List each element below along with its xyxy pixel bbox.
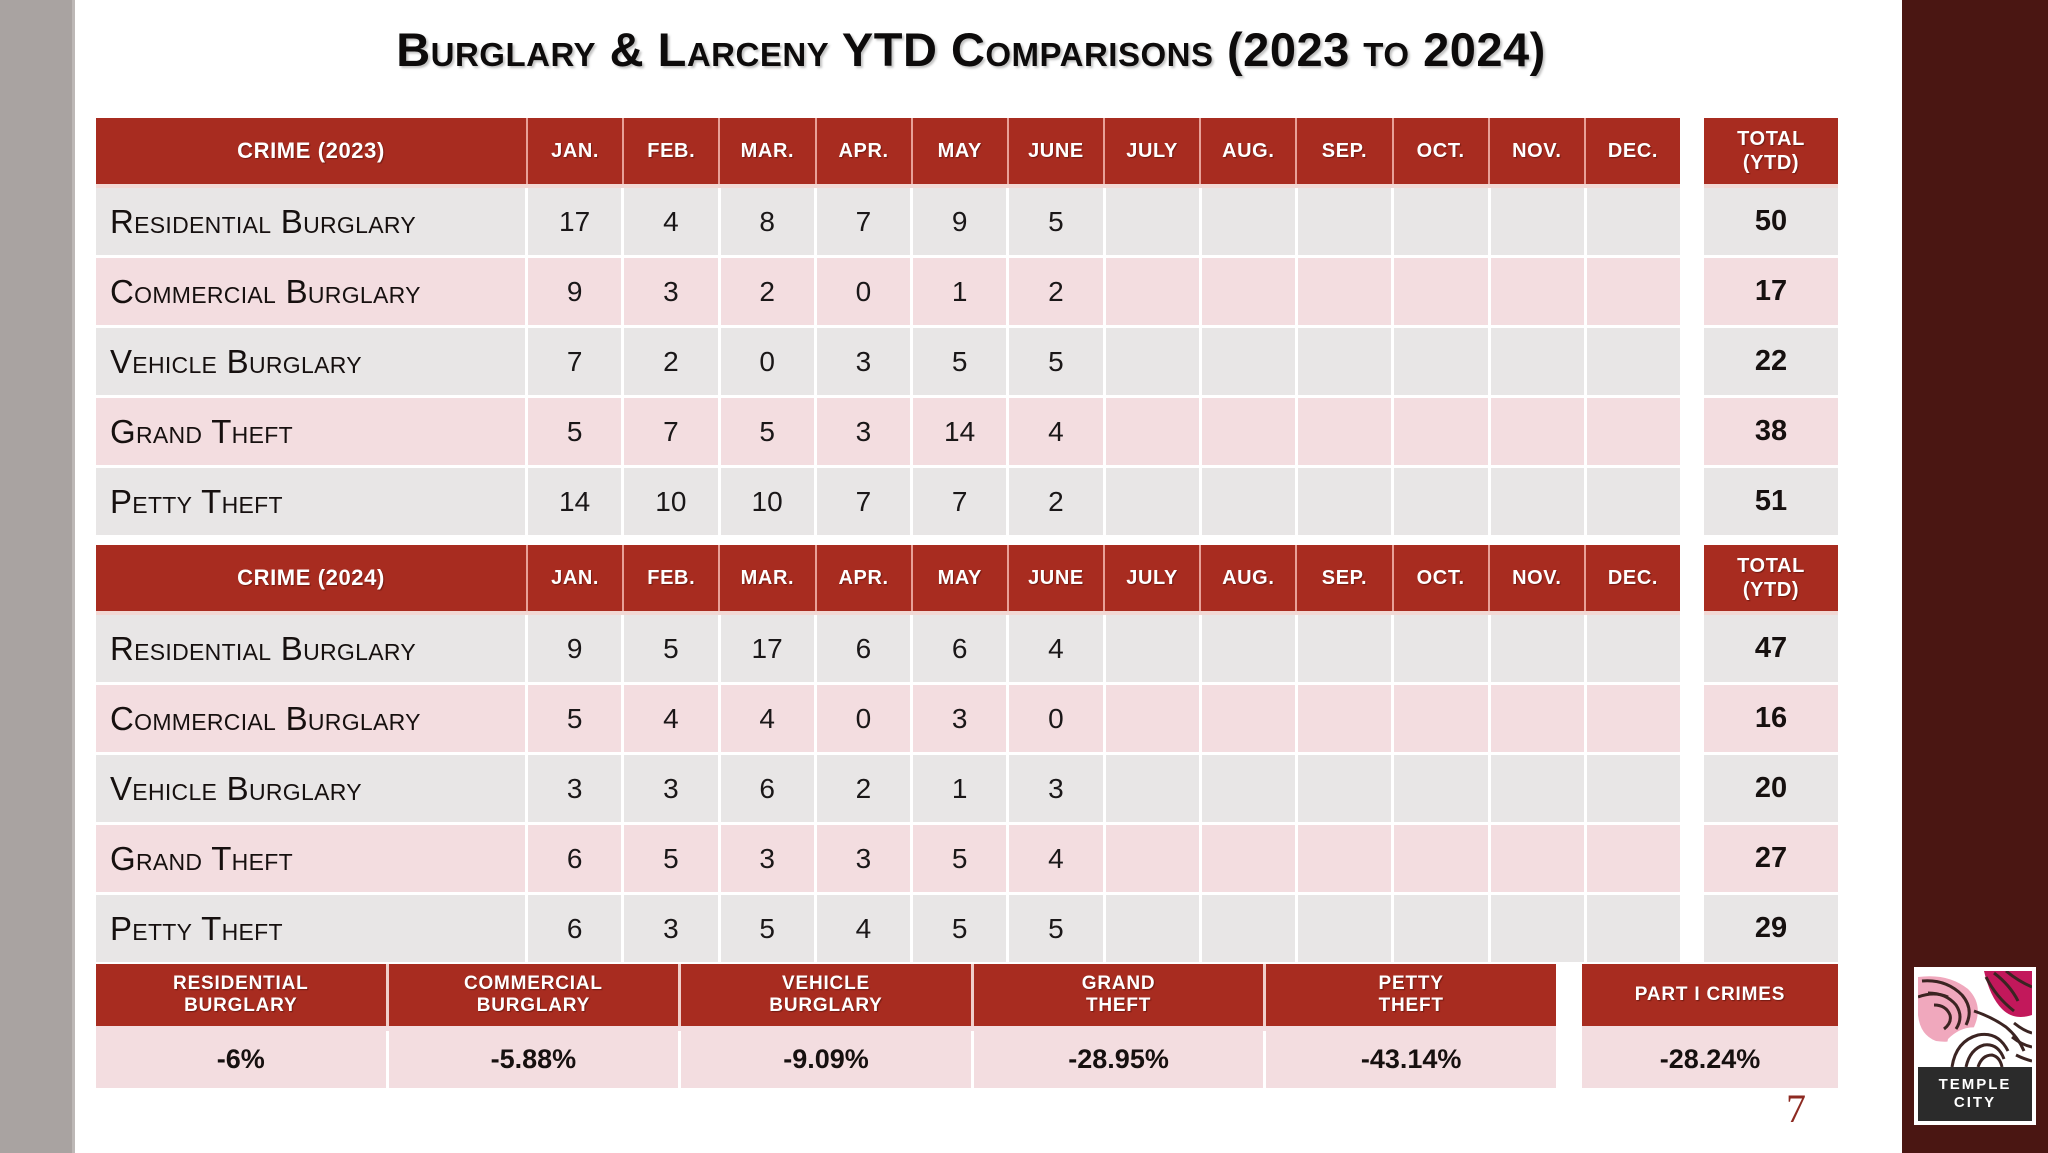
- cell-june: 0: [1009, 685, 1105, 752]
- cell-july: [1106, 685, 1202, 752]
- percent-change-value-row: -6% -5.88% -9.09% -28.95% -43.14%: [96, 1031, 1556, 1088]
- column-header-apr: APR.: [817, 118, 913, 184]
- cell-may: 7: [913, 468, 1009, 535]
- percent-residential-burglary: -6%: [96, 1031, 389, 1088]
- column-header-aug: AUG.: [1201, 118, 1297, 184]
- compare-header-grand-theft: GRAND THEFT: [974, 964, 1267, 1026]
- cell-may: 5: [913, 895, 1009, 962]
- cell-oct: [1394, 825, 1490, 892]
- cell-oct: [1394, 615, 1490, 682]
- compare-header-line1: PETTY: [1379, 973, 1444, 995]
- column-header-june: JUNE: [1009, 118, 1105, 184]
- column-header-feb: FEB.: [624, 118, 720, 184]
- cell-jan: 5: [528, 398, 624, 465]
- cell-sep: [1298, 825, 1394, 892]
- cell-apr: 3: [817, 398, 913, 465]
- cell-dec: [1587, 328, 1680, 395]
- total-value: 22: [1704, 328, 1838, 395]
- column-header-jan: JAN.: [528, 545, 624, 611]
- cell-nov: [1491, 895, 1587, 962]
- cell-oct: [1394, 895, 1490, 962]
- cell-nov: [1491, 615, 1587, 682]
- cell-mar: 4: [721, 685, 817, 752]
- cell-jan: 9: [528, 615, 624, 682]
- table-header-row: CRIME (2023) JAN. FEB. MAR. APR. MAY JUN…: [96, 118, 1680, 184]
- percent-petty-theft: -43.14%: [1266, 1031, 1556, 1088]
- cell-jan: 6: [528, 825, 624, 892]
- cell-apr: 0: [817, 685, 913, 752]
- cell-sep: [1298, 258, 1394, 325]
- cell-aug: [1202, 615, 1298, 682]
- compare-header-line2: BURGLARY: [184, 995, 297, 1017]
- table-row: Residential Burglary 17 4 8 7 9 5: [96, 188, 1680, 255]
- cell-aug: [1202, 825, 1298, 892]
- cell-june: 5: [1009, 328, 1105, 395]
- total-value: 27: [1704, 825, 1838, 892]
- cell-may: 1: [913, 258, 1009, 325]
- total-header-line2: (YTD): [1743, 151, 1799, 175]
- column-header-oct: OCT.: [1394, 118, 1490, 184]
- cell-july: [1106, 398, 1202, 465]
- total-header-line1: TOTAL: [1737, 127, 1805, 151]
- table-row: Vehicle Burglary 7 2 0 3 5 5: [96, 328, 1680, 395]
- cell-june: 4: [1009, 398, 1105, 465]
- table-row: Grand Theft 5 7 5 3 14 4: [96, 398, 1680, 465]
- cell-feb: 3: [624, 258, 720, 325]
- column-header-total: TOTAL (YTD): [1704, 118, 1838, 184]
- cell-apr: 0: [817, 258, 913, 325]
- percent-commercial-burglary: -5.88%: [389, 1031, 682, 1088]
- cell-jan: 17: [528, 188, 624, 255]
- cell-may: 9: [913, 188, 1009, 255]
- cell-oct: [1394, 755, 1490, 822]
- compare-header-vehicle-burglary: VEHICLE BURGLARY: [681, 964, 974, 1026]
- percent-change-header-row: RESIDENTIAL BURGLARY COMMERCIAL BURGLARY…: [96, 964, 1556, 1026]
- column-header-may: MAY: [913, 545, 1009, 611]
- table-row: Commercial Burglary 5 4 4 0 3 0: [96, 685, 1680, 752]
- cell-jan: 3: [528, 755, 624, 822]
- cell-dec: [1587, 755, 1680, 822]
- cell-may: 5: [913, 825, 1009, 892]
- compare-header-line2: BURGLARY: [769, 995, 882, 1017]
- page-number: 7: [1766, 1085, 1826, 1132]
- cell-feb: 7: [624, 398, 720, 465]
- logo-line-temple: TEMPLE: [1939, 1076, 2012, 1094]
- table-row: Petty Theft 6 3 5 4 5 5: [96, 895, 1680, 962]
- percent-change-table: RESIDENTIAL BURGLARY COMMERCIAL BURGLARY…: [96, 964, 1556, 1088]
- cell-jan: 7: [528, 328, 624, 395]
- part-one-crimes-value: -28.24%: [1582, 1031, 1838, 1088]
- table-row: Grand Theft 6 5 3 3 5 4: [96, 825, 1680, 892]
- cell-july: [1106, 328, 1202, 395]
- cell-apr: 7: [817, 468, 913, 535]
- cell-aug: [1202, 895, 1298, 962]
- cell-aug: [1202, 328, 1298, 395]
- row-label: Vehicle Burglary: [96, 755, 528, 822]
- table-row: Commercial Burglary 9 3 2 0 1 2: [96, 258, 1680, 325]
- cell-sep: [1298, 615, 1394, 682]
- cell-aug: [1202, 755, 1298, 822]
- compare-header-line1: COMMERCIAL: [464, 973, 603, 995]
- cell-dec: [1587, 685, 1680, 752]
- column-header-july: JULY: [1105, 118, 1201, 184]
- cell-nov: [1491, 398, 1587, 465]
- table-row: Residential Burglary 9 5 17 6 6 4: [96, 615, 1680, 682]
- rose-icon: [1918, 971, 2032, 1067]
- column-header-july: JULY: [1105, 545, 1201, 611]
- column-header-nov: NOV.: [1490, 118, 1586, 184]
- column-header-sep: SEP.: [1297, 118, 1393, 184]
- column-header-oct: OCT.: [1394, 545, 1490, 611]
- cell-june: 4: [1009, 825, 1105, 892]
- cell-oct: [1394, 468, 1490, 535]
- column-header-may: MAY: [913, 118, 1009, 184]
- cell-aug: [1202, 258, 1298, 325]
- temple-city-wordmark: TEMPLE CITY: [1918, 1067, 2032, 1121]
- row-label: Commercial Burglary: [96, 685, 528, 752]
- cell-jan: 5: [528, 685, 624, 752]
- cell-aug: [1202, 685, 1298, 752]
- column-header-sep: SEP.: [1297, 545, 1393, 611]
- cell-mar: 10: [721, 468, 817, 535]
- cell-dec: [1587, 825, 1680, 892]
- row-label: Petty Theft: [96, 468, 528, 535]
- percent-vehicle-burglary: -9.09%: [681, 1031, 974, 1088]
- column-header-jan: JAN.: [528, 118, 624, 184]
- row-label: Petty Theft: [96, 895, 528, 962]
- cell-oct: [1394, 188, 1490, 255]
- column-header-june: JUNE: [1009, 545, 1105, 611]
- logo-line-city: CITY: [1954, 1094, 1996, 1112]
- cell-dec: [1587, 615, 1680, 682]
- cell-sep: [1298, 188, 1394, 255]
- cell-july: [1106, 258, 1202, 325]
- row-label: Grand Theft: [96, 398, 528, 465]
- total-value: 20: [1704, 755, 1838, 822]
- cell-july: [1106, 825, 1202, 892]
- compare-header-line2: THEFT: [1086, 995, 1151, 1017]
- column-header-nov: NOV.: [1490, 545, 1586, 611]
- cell-mar: 5: [721, 895, 817, 962]
- column-header-mar: MAR.: [720, 118, 816, 184]
- cell-mar: 8: [721, 188, 817, 255]
- slide-canvas: Burglary & Larceny YTD Comparisons (2023…: [76, 0, 1902, 1153]
- cell-oct: [1394, 398, 1490, 465]
- total-value: 16: [1704, 685, 1838, 752]
- cell-apr: 3: [817, 825, 913, 892]
- total-value: 50: [1704, 188, 1838, 255]
- cell-july: [1106, 188, 1202, 255]
- cell-july: [1106, 755, 1202, 822]
- cell-june: 5: [1009, 188, 1105, 255]
- cell-may: 5: [913, 328, 1009, 395]
- cell-sep: [1298, 895, 1394, 962]
- table-row: Vehicle Burglary 3 3 6 2 1 3: [96, 755, 1680, 822]
- compare-header-line2: THEFT: [1379, 995, 1444, 1017]
- left-decorative-band: [0, 0, 72, 1153]
- crime-table-2024-months: CRIME (2024) JAN. FEB. MAR. APR. MAY JUN…: [96, 545, 1680, 962]
- slide-root: Burglary & Larceny YTD Comparisons (2023…: [0, 0, 2048, 1153]
- total-value: 47: [1704, 615, 1838, 682]
- cell-nov: [1491, 468, 1587, 535]
- cell-feb: 4: [624, 685, 720, 752]
- cell-oct: [1394, 685, 1490, 752]
- cell-aug: [1202, 398, 1298, 465]
- cell-may: 1: [913, 755, 1009, 822]
- compare-header-line1: RESIDENTIAL: [173, 973, 308, 995]
- cell-june: 2: [1009, 258, 1105, 325]
- column-header-dec: DEC.: [1586, 118, 1680, 184]
- column-header-crime: CRIME (2023): [96, 118, 528, 184]
- cell-feb: 4: [624, 188, 720, 255]
- cell-dec: [1587, 258, 1680, 325]
- cell-mar: 17: [721, 615, 817, 682]
- cell-jan: 6: [528, 895, 624, 962]
- cell-mar: 0: [721, 328, 817, 395]
- cell-feb: 2: [624, 328, 720, 395]
- cell-aug: [1202, 188, 1298, 255]
- column-header-crime: CRIME (2024): [96, 545, 528, 611]
- compare-header-residential-burglary: RESIDENTIAL BURGLARY: [96, 964, 389, 1026]
- cell-sep: [1298, 468, 1394, 535]
- left-band-edge: [72, 0, 75, 1153]
- total-value: 29: [1704, 895, 1838, 962]
- compare-header-line1: VEHICLE: [782, 973, 870, 995]
- total-header-line1: TOTAL: [1737, 554, 1805, 578]
- cell-feb: 3: [624, 895, 720, 962]
- cell-feb: 3: [624, 755, 720, 822]
- cell-june: 5: [1009, 895, 1105, 962]
- cell-dec: [1587, 398, 1680, 465]
- cell-feb: 10: [624, 468, 720, 535]
- cell-nov: [1491, 188, 1587, 255]
- row-label: Commercial Burglary: [96, 258, 528, 325]
- cell-feb: 5: [624, 615, 720, 682]
- cell-sep: [1298, 685, 1394, 752]
- cell-mar: 6: [721, 755, 817, 822]
- cell-june: 2: [1009, 468, 1105, 535]
- cell-june: 4: [1009, 615, 1105, 682]
- total-value: 17: [1704, 258, 1838, 325]
- compare-header-petty-theft: PETTY THEFT: [1266, 964, 1556, 1026]
- cell-dec: [1587, 468, 1680, 535]
- column-header-mar: MAR.: [720, 545, 816, 611]
- crime-table-2024-total: TOTAL (YTD) 47 16 20 27 29: [1704, 545, 1838, 962]
- total-value: 51: [1704, 468, 1838, 535]
- crime-table-2023-months: CRIME (2023) JAN. FEB. MAR. APR. MAY JUN…: [96, 118, 1680, 535]
- cell-mar: 2: [721, 258, 817, 325]
- column-header-feb: FEB.: [624, 545, 720, 611]
- cell-jan: 14: [528, 468, 624, 535]
- page-title: Burglary & Larceny YTD Comparisons (2023…: [76, 22, 1866, 78]
- total-header-line2: (YTD): [1743, 578, 1799, 602]
- row-label: Residential Burglary: [96, 615, 528, 682]
- cell-nov: [1491, 258, 1587, 325]
- cell-apr: 2: [817, 755, 913, 822]
- cell-jan: 9: [528, 258, 624, 325]
- part-one-crimes-header: PART I CRIMES: [1582, 964, 1838, 1026]
- cell-oct: [1394, 328, 1490, 395]
- cell-mar: 5: [721, 398, 817, 465]
- cell-nov: [1491, 825, 1587, 892]
- table-header-row: CRIME (2024) JAN. FEB. MAR. APR. MAY JUN…: [96, 545, 1680, 611]
- cell-apr: 4: [817, 895, 913, 962]
- cell-apr: 6: [817, 615, 913, 682]
- part-one-crimes-block: PART I CRIMES -28.24%: [1582, 964, 1838, 1088]
- column-header-total: TOTAL (YTD): [1704, 545, 1838, 611]
- total-value: 38: [1704, 398, 1838, 465]
- row-label: Vehicle Burglary: [96, 328, 528, 395]
- cell-july: [1106, 615, 1202, 682]
- cell-nov: [1491, 685, 1587, 752]
- cell-feb: 5: [624, 825, 720, 892]
- column-header-aug: AUG.: [1201, 545, 1297, 611]
- temple-city-logo: TEMPLE CITY: [1914, 967, 2036, 1125]
- cell-july: [1106, 895, 1202, 962]
- cell-apr: 7: [817, 188, 913, 255]
- percent-grand-theft: -28.95%: [974, 1031, 1267, 1088]
- row-label: Residential Burglary: [96, 188, 528, 255]
- cell-nov: [1491, 755, 1587, 822]
- compare-header-commercial-burglary: COMMERCIAL BURGLARY: [389, 964, 682, 1026]
- cell-apr: 3: [817, 328, 913, 395]
- cell-mar: 3: [721, 825, 817, 892]
- compare-header-line1: GRAND: [1082, 973, 1156, 995]
- cell-july: [1106, 468, 1202, 535]
- cell-june: 3: [1009, 755, 1105, 822]
- cell-sep: [1298, 755, 1394, 822]
- cell-sep: [1298, 328, 1394, 395]
- column-header-dec: DEC.: [1586, 545, 1680, 611]
- cell-sep: [1298, 398, 1394, 465]
- cell-may: 3: [913, 685, 1009, 752]
- cell-aug: [1202, 468, 1298, 535]
- cell-may: 14: [913, 398, 1009, 465]
- table-row: Petty Theft 14 10 10 7 7 2: [96, 468, 1680, 535]
- cell-may: 6: [913, 615, 1009, 682]
- row-label: Grand Theft: [96, 825, 528, 892]
- cell-dec: [1587, 188, 1680, 255]
- cell-dec: [1587, 895, 1680, 962]
- crime-table-2023-total: TOTAL (YTD) 50 17 22 38 51: [1704, 118, 1838, 535]
- cell-oct: [1394, 258, 1490, 325]
- compare-header-line2: BURGLARY: [477, 995, 590, 1017]
- column-header-apr: APR.: [817, 545, 913, 611]
- cell-nov: [1491, 328, 1587, 395]
